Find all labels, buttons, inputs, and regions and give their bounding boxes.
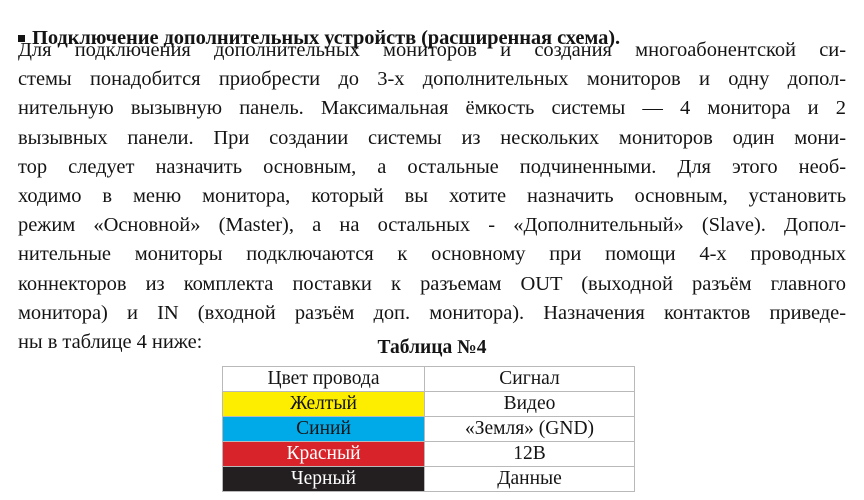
body-paragraph: Для подключения дополнительных мониторов… [18,36,846,357]
wire-pinout-table: Цвет провода Сигнал Желтый Видео Синий «… [222,366,635,492]
paragraph-line: вызывных панели. При создании системы из… [18,124,846,153]
wire-color-cell: Синий [223,417,425,442]
paragraph-line: ходимо в меню монитора, который вы хотит… [18,182,846,211]
signal-cell: «Земля» (GND) [425,417,635,442]
wire-color-cell: Желтый [223,392,425,417]
wire-color-cell: Черный [223,467,425,492]
paragraph-line: стемы понадобится приобрести до 3-х допо… [18,65,846,94]
table-caption: Таблица №4 [0,336,864,360]
signal-cell: 12В [425,442,635,467]
table-row: Красный 12В [223,442,635,467]
paragraph-line: монитора) и IN (входной разъём доп. мони… [18,299,846,328]
document-page: Подключение дополнительных устройств (ра… [0,0,864,500]
table-row: Синий «Земля» (GND) [223,417,635,442]
column-header-wire-color: Цвет провода [223,367,425,392]
column-header-signal: Сигнал [425,367,635,392]
table-header-row: Цвет провода Сигнал [223,367,635,392]
paragraph-line: режим «Основной» (Master), а на остальны… [18,211,846,240]
paragraph-line: нительные мониторы подключаются к основн… [18,240,846,269]
table-row: Желтый Видео [223,392,635,417]
wire-color-cell: Красный [223,442,425,467]
table-row: Черный Данные [223,467,635,492]
paragraph-line: Для подключения дополнительных мониторов… [18,36,846,65]
signal-cell: Видео [425,392,635,417]
paragraph-line: нительную вызывную панель. Максимальная … [18,94,846,123]
signal-cell: Данные [425,467,635,492]
paragraph-line: тор следует назначить основным, а осталь… [18,153,846,182]
paragraph-line: коннекторов из комплекта поставки к разъ… [18,270,846,299]
